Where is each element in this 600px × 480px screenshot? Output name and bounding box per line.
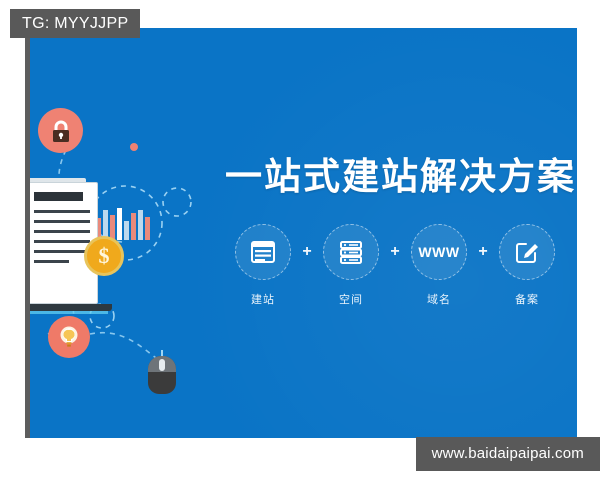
- feature-item-jianzhan[interactable]: 建站: [232, 224, 294, 307]
- tg-tag-banner: TG: MYYJJPP: [10, 9, 140, 38]
- edit-square-icon: [499, 224, 555, 280]
- lock-icon: [38, 108, 83, 153]
- page-title: 一站式建站解决方案: [225, 156, 565, 199]
- feature-label: 建站: [251, 291, 275, 307]
- feature-row: 建站 + 空间: [225, 224, 565, 307]
- feature-item-kongjian[interactable]: 空间: [320, 224, 382, 307]
- server-rack-icon: [323, 224, 379, 280]
- plus-separator-2: +: [382, 224, 408, 280]
- feature-item-yuming[interactable]: WWW 域名: [408, 224, 470, 307]
- plus-separator-1: +: [294, 224, 320, 280]
- page-canvas: $ 一站式建站解决方案: [0, 0, 600, 480]
- www-label: WWW: [418, 244, 459, 260]
- feature-label: 域名: [427, 291, 451, 307]
- promo-banner: $ 一站式建站解决方案: [30, 28, 577, 438]
- plus-separator-3: +: [470, 224, 496, 280]
- watermark-banner: www.baidaipaipai.com: [416, 437, 600, 471]
- www-text-icon: WWW: [411, 224, 467, 280]
- dollar-coin-icon: $: [84, 236, 124, 276]
- computer-mouse-icon: [148, 350, 176, 394]
- feature-item-beian[interactable]: 备案: [496, 224, 558, 307]
- lightbulb-icon: [48, 316, 90, 358]
- browser-page-icon: [235, 224, 291, 280]
- feature-label: 备案: [515, 291, 539, 307]
- feature-label: 空间: [339, 291, 363, 307]
- decor-dot: [130, 143, 138, 151]
